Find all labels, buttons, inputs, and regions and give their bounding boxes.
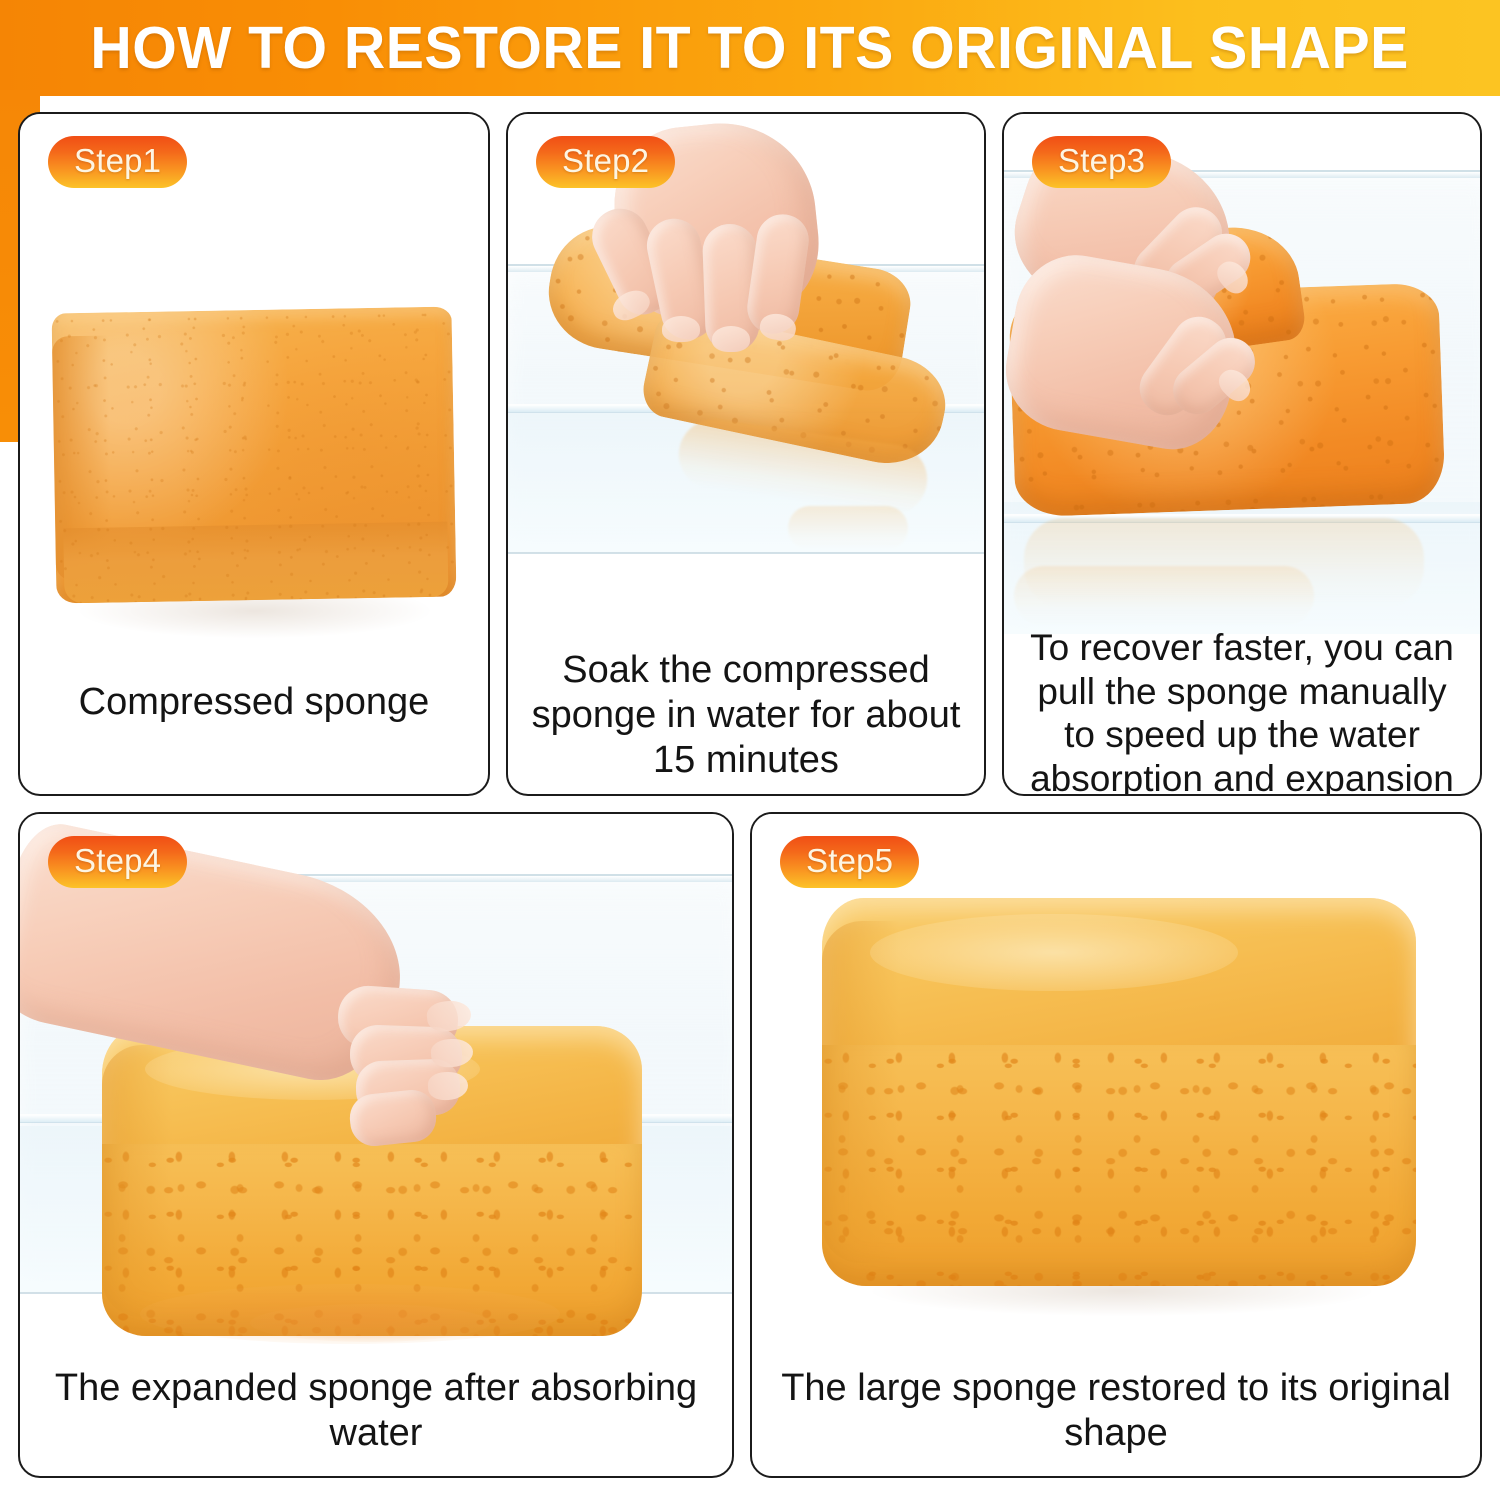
step-4-caption: The expanded sponge after absorbing wate… bbox=[20, 1366, 732, 1456]
step-panel-1: Compressed sponge Step1 bbox=[18, 112, 490, 796]
step-panel-3: Step3 To recover faster, you can pull th… bbox=[1002, 112, 1482, 796]
page-header: HOW TO RESTORE IT TO ITS ORIGINAL SHAPE bbox=[0, 0, 1500, 96]
step-2-badge: Step2 bbox=[536, 136, 675, 188]
restored-sponge bbox=[822, 898, 1416, 1286]
step-panel-2: Step2 Soak the compressed sponge in wate… bbox=[506, 112, 986, 796]
step-3-caption: To recover faster, you can pull the spon… bbox=[1004, 626, 1480, 796]
step-1-badge: Step1 bbox=[48, 136, 187, 188]
step-5-photo bbox=[752, 814, 1480, 1354]
step-4-photo bbox=[20, 814, 732, 1354]
step-4-badge: Step4 bbox=[48, 836, 187, 888]
step-panel-5: Step5 The large sponge restored to its o… bbox=[750, 812, 1482, 1478]
step-5-caption: The large sponge restored to its origina… bbox=[752, 1366, 1480, 1456]
step-1-photo bbox=[20, 114, 488, 674]
step-2-photo bbox=[508, 114, 984, 654]
compressed-sponge bbox=[51, 307, 456, 604]
step-panel-4: Step4 The expanded sponge after absorbin… bbox=[18, 812, 734, 1478]
step-3-badge: Step3 bbox=[1032, 136, 1171, 188]
step-2-caption: Soak the compressed sponge in water for … bbox=[508, 648, 984, 782]
page-title: HOW TO RESTORE IT TO ITS ORIGINAL SHAPE bbox=[91, 19, 1409, 78]
step-5-badge: Step5 bbox=[780, 836, 919, 888]
step-3-photo bbox=[1004, 114, 1480, 634]
